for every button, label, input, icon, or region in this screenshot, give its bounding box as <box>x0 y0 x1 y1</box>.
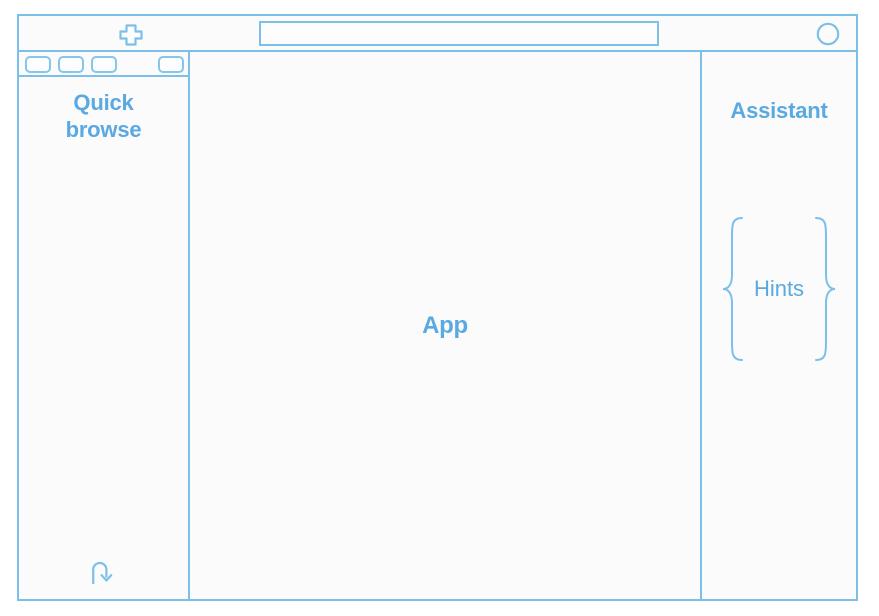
u-turn-arrow-icon[interactable] <box>86 557 120 587</box>
app-panel: App <box>190 52 702 599</box>
quick-browse-title-line-1: Quick <box>19 90 188 117</box>
app-label: App <box>190 52 700 599</box>
assistant-title: Assistant <box>702 98 856 124</box>
left-curly-brace-icon <box>720 215 746 363</box>
quick-browse-title: Quick browse <box>19 90 188 144</box>
circle-icon[interactable] <box>815 21 841 47</box>
quick-browse-panel: Quick browse <box>19 52 190 599</box>
tab-chip-2[interactable] <box>58 56 84 73</box>
tab-chip-1[interactable] <box>25 56 51 73</box>
panel-row: Quick browse App Assistant <box>19 52 856 599</box>
tab-chip-3[interactable] <box>91 56 117 73</box>
right-curly-brace-icon <box>812 215 838 363</box>
browser-toolbar <box>19 16 856 52</box>
tab-strip <box>19 52 188 77</box>
hints-label: Hints <box>746 276 812 302</box>
tab-chip-4[interactable] <box>158 56 184 73</box>
address-input[interactable] <box>259 21 659 46</box>
assistant-panel: Assistant Hints <box>702 52 856 599</box>
quick-browse-title-line-2: browse <box>19 117 188 144</box>
hints-group: Hints <box>702 215 856 363</box>
wireframe-window: Quick browse App Assistant <box>17 14 858 601</box>
plus-icon[interactable] <box>114 23 148 47</box>
